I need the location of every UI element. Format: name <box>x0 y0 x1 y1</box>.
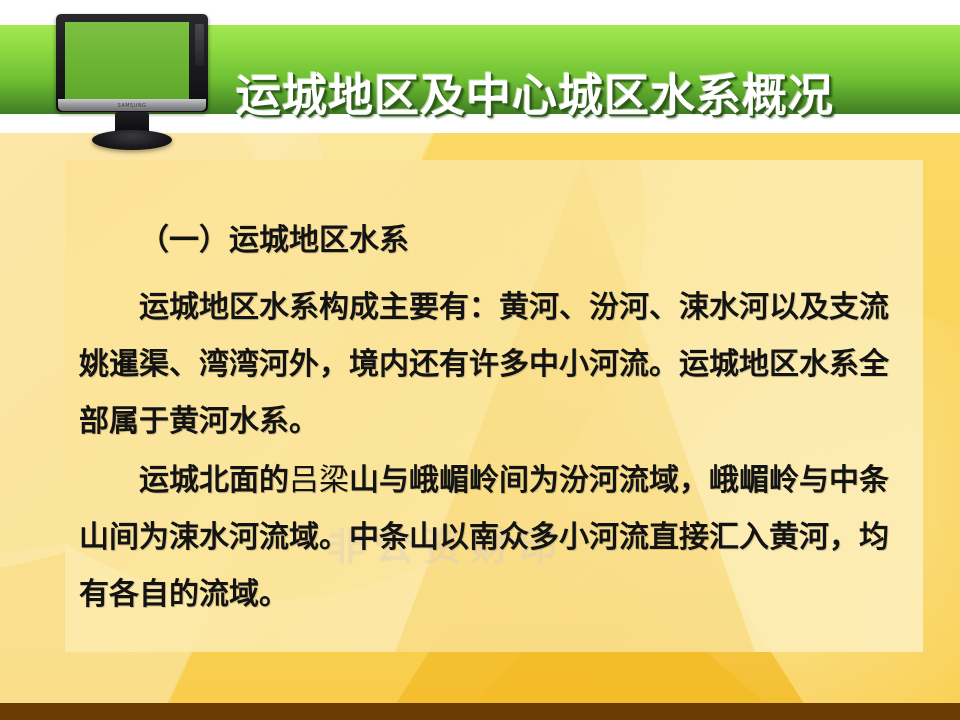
paragraph-1: 运城地区水系构成主要有：黄河、汾河、涑水河以及支流姚暹渠、湾湾河外，境内还有许多… <box>79 279 909 450</box>
paragraph-2-lead: 运城北面的 <box>139 463 289 498</box>
monitor-stand-base <box>92 130 172 150</box>
section-heading: （一）运城地区水系 <box>79 212 909 269</box>
paragraph-2-emphasis: 吕梁 <box>289 463 349 498</box>
bottom-accent-band <box>0 703 960 720</box>
page-title: 运城地区及中心城区水系概况 <box>236 61 936 131</box>
body-text-block: （一）运城地区水系 运城地区水系构成主要有：黄河、汾河、涑水河以及支流姚暹渠、湾… <box>79 212 909 625</box>
paragraph-2: 运城北面的吕梁山与峨嵋岭间为汾河流域，峨嵋岭与中条山间为涑水河流域。中条山以南众… <box>79 452 909 623</box>
slide-root: 运城地区及中心城区水系概况 SAMSUNG 非公资财印 （一）运城地区水系 运城… <box>0 0 960 720</box>
monitor-brand-label: SAMSUNG <box>118 103 147 109</box>
monitor-side-buttons-icon <box>195 24 204 66</box>
lcd-monitor-graphic: SAMSUNG <box>56 14 208 148</box>
monitor-brand-strip: SAMSUNG <box>58 99 206 111</box>
monitor-bezel: SAMSUNG <box>56 14 208 112</box>
content-panel: 非公资财印 （一）运城地区水系 运城地区水系构成主要有：黄河、汾河、涑水河以及支… <box>65 160 923 652</box>
monitor-screen <box>65 22 189 99</box>
